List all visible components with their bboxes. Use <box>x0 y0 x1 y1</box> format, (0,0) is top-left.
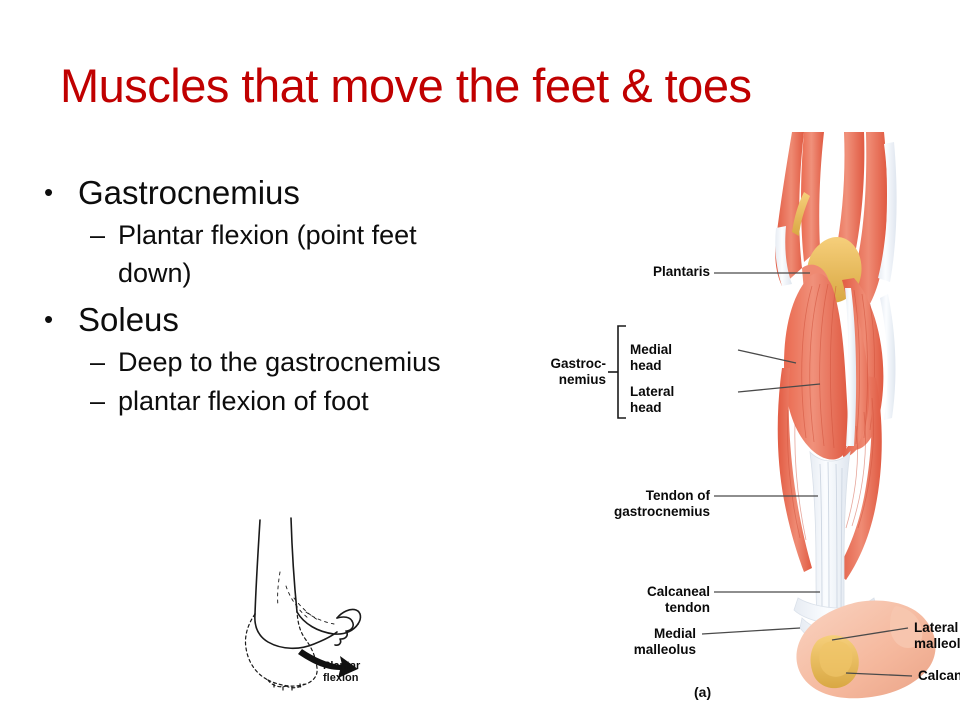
bullet-marker-icon: • <box>44 298 53 340</box>
page-title: Muscles that move the feet & toes <box>60 58 900 113</box>
leg-anatomy-diagram: Plantaris Gastroc- nemius Medial head La… <box>596 128 960 720</box>
plantar-flexion-diagram: Plantar flexion <box>228 512 428 712</box>
label-calcaneal-tendon: Calcaneal tendon <box>542 584 710 615</box>
list-item-label: Deep to the gastrocnemius <box>118 343 570 381</box>
list-item: • Gastrocnemius <box>30 172 570 214</box>
label-lateral-head: Lateral head <box>630 384 730 415</box>
list-item-label: Soleus <box>78 301 179 338</box>
label-gastrocnemius: Gastroc- nemius <box>530 356 606 387</box>
gastrocnemius-bracket <box>608 326 626 418</box>
slide-canvas: Muscles that move the feet & toes • Gast… <box>0 0 960 720</box>
dash-marker-icon: – <box>90 343 105 381</box>
dash-marker-icon: – <box>90 382 105 420</box>
label-plantaris: Plantaris <box>596 264 710 280</box>
list-item-label: plantar flexion of foot <box>118 382 570 420</box>
plantar-flexion-label: Plantar flexion <box>323 660 360 684</box>
list-item-label: Gastrocnemius <box>78 174 300 211</box>
list-item-label: Plantar flexion (point feet <box>118 216 570 254</box>
list-item: – plantar flexion of foot <box>30 382 570 420</box>
figure-caption: (a) <box>694 684 711 700</box>
label-medial-malleolus: Medial malleolus <box>536 626 696 657</box>
leader-medial-malleolus <box>702 628 800 634</box>
label-lateral-malleolus: Lateral malleolus <box>914 620 960 651</box>
bullet-list: • Gastrocnemius – Plantar flexion (point… <box>30 172 570 421</box>
list-item: – Deep to the gastrocnemius <box>30 343 570 381</box>
list-item: • Soleus <box>30 299 570 341</box>
label-medial-head: Medial head <box>630 342 730 373</box>
label-tendon-of-gastrocnemius: Tendon of gastrocnemius <box>542 488 710 519</box>
list-item: – Plantar flexion (point feet down) <box>30 216 570 292</box>
calcaneal-tendon-shape <box>810 452 850 626</box>
list-item-label-continued: down) <box>118 254 570 292</box>
dash-marker-icon: – <box>90 216 105 254</box>
bullet-marker-icon: • <box>44 171 53 213</box>
label-calcaneus: Calcaneus <box>918 668 960 684</box>
